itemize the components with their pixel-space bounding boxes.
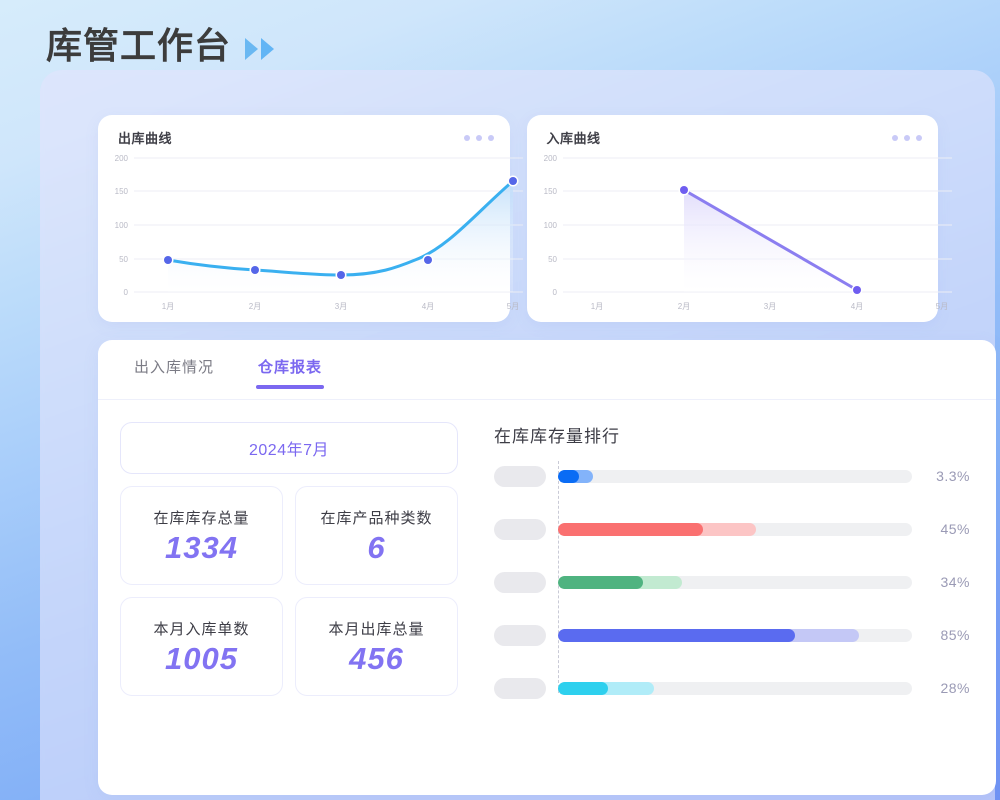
ranking-title: 在库库存量排行 bbox=[494, 422, 970, 447]
ranking-percentage: 85% bbox=[912, 627, 970, 643]
ranking-row[interactable]: 85% bbox=[494, 624, 970, 646]
ranking-item-label-placeholder bbox=[494, 519, 546, 540]
svg-text:1月: 1月 bbox=[162, 302, 174, 311]
ranking-item-label-placeholder bbox=[494, 466, 546, 487]
ranking-row[interactable]: 45% bbox=[494, 518, 970, 540]
ranking-bar-track bbox=[558, 523, 912, 536]
stat-grid: 在库库存总量 1334 在库产品种类数 6 本月入库单数 1005 本月出库总量… bbox=[120, 486, 458, 696]
stat-value: 456 bbox=[349, 643, 404, 676]
stat-label: 本月出库总量 bbox=[328, 618, 424, 639]
svg-text:4月: 4月 bbox=[850, 302, 862, 311]
svg-text:3月: 3月 bbox=[335, 302, 347, 311]
ranking-item-label-placeholder bbox=[494, 678, 546, 699]
stat-card-total-stock[interactable]: 在库库存总量 1334 bbox=[120, 486, 283, 585]
ranking-row[interactable]: 28% bbox=[494, 677, 970, 699]
ranking-bar-track bbox=[558, 576, 912, 589]
double-chevron-right-icon bbox=[245, 38, 274, 60]
ranking-bar-dark bbox=[558, 682, 608, 695]
dashboard-panel: 出库曲线 bbox=[40, 70, 995, 800]
svg-text:200: 200 bbox=[115, 154, 129, 163]
svg-text:5月: 5月 bbox=[935, 302, 947, 311]
tab-bar: 出入库情况 仓库报表 bbox=[98, 340, 996, 400]
svg-text:2月: 2月 bbox=[677, 302, 689, 311]
ranking-column: 在库库存量排行 3.3%45%34%85%28% bbox=[484, 422, 970, 699]
ranking-row[interactable]: 34% bbox=[494, 571, 970, 593]
chart-title-inbound: 入库曲线 bbox=[547, 128, 601, 147]
stat-value: 1005 bbox=[165, 643, 238, 676]
stat-card-outbound-total[interactable]: 本月出库总量 456 bbox=[295, 597, 458, 696]
more-dots-icon[interactable] bbox=[892, 135, 922, 141]
svg-text:200: 200 bbox=[543, 154, 557, 163]
ranking-item-label-placeholder bbox=[494, 625, 546, 646]
ranking-bar-track bbox=[558, 629, 912, 642]
ranking-percentage: 28% bbox=[912, 680, 970, 696]
more-dots-icon[interactable] bbox=[464, 135, 494, 141]
ranking-bar-dark bbox=[558, 470, 579, 483]
ranking-percentage: 45% bbox=[912, 521, 970, 537]
svg-text:2月: 2月 bbox=[249, 302, 261, 311]
svg-text:150: 150 bbox=[115, 187, 129, 196]
chevron-right-icon bbox=[261, 38, 274, 60]
chart-title-outbound: 出库曲线 bbox=[118, 128, 172, 147]
svg-text:5月: 5月 bbox=[507, 302, 519, 311]
ranking-row[interactable]: 3.3% bbox=[494, 465, 970, 487]
svg-text:50: 50 bbox=[548, 255, 557, 264]
inbound-line-chart: 200 150 100 50 0 1月 2月 3 bbox=[527, 149, 968, 322]
ranking-bar-dark bbox=[558, 576, 643, 589]
ranking-item-label-placeholder bbox=[494, 572, 546, 593]
stat-value: 1334 bbox=[165, 532, 238, 565]
chart-header: 出库曲线 bbox=[118, 128, 494, 147]
stat-label: 本月入库单数 bbox=[153, 618, 249, 639]
svg-text:100: 100 bbox=[115, 221, 129, 230]
chart-card-inbound: 入库曲线 bbox=[527, 115, 939, 322]
chart-header: 入库曲线 bbox=[547, 128, 923, 147]
page-title: 库管工作台 bbox=[46, 28, 231, 64]
svg-text:1月: 1月 bbox=[590, 302, 602, 311]
charts-row: 出库曲线 bbox=[98, 115, 938, 322]
tab-inout-status[interactable]: 出入库情况 bbox=[132, 348, 216, 391]
ranking-bar-track bbox=[558, 470, 912, 483]
stat-value: 6 bbox=[367, 532, 385, 565]
ranking-bar-dark bbox=[558, 629, 795, 642]
report-body: 2024年7月 在库库存总量 1334 在库产品种类数 6 本月入库单数 100… bbox=[98, 400, 996, 699]
svg-text:100: 100 bbox=[543, 221, 557, 230]
stat-label: 在库产品种类数 bbox=[320, 507, 432, 528]
stat-card-inbound-orders[interactable]: 本月入库单数 1005 bbox=[120, 597, 283, 696]
ranking-list: 3.3%45%34%85%28% bbox=[494, 465, 970, 699]
chart-card-outbound: 出库曲线 bbox=[98, 115, 510, 322]
ranking-bar-track bbox=[558, 682, 912, 695]
chevron-right-icon bbox=[245, 38, 258, 60]
svg-text:150: 150 bbox=[543, 187, 557, 196]
svg-text:4月: 4月 bbox=[422, 302, 434, 311]
stat-label: 在库库存总量 bbox=[153, 507, 249, 528]
period-selector[interactable]: 2024年7月 bbox=[120, 422, 458, 474]
ranking-percentage: 3.3% bbox=[912, 468, 970, 484]
svg-text:0: 0 bbox=[552, 288, 557, 297]
stats-column: 2024年7月 在库库存总量 1334 在库产品种类数 6 本月入库单数 100… bbox=[120, 422, 458, 699]
svg-text:0: 0 bbox=[124, 288, 129, 297]
ranking-bar-dark bbox=[558, 523, 703, 536]
stat-card-product-types[interactable]: 在库产品种类数 6 bbox=[295, 486, 458, 585]
ranking-percentage: 34% bbox=[912, 574, 970, 590]
report-panel: 出入库情况 仓库报表 2024年7月 在库库存总量 1334 在库产品种类数 6 bbox=[98, 340, 996, 795]
page-header: 库管工作台 bbox=[46, 28, 274, 64]
svg-text:50: 50 bbox=[119, 255, 128, 264]
outbound-line-chart: 200 150 100 50 0 bbox=[98, 149, 539, 322]
svg-text:3月: 3月 bbox=[763, 302, 775, 311]
tab-warehouse-report[interactable]: 仓库报表 bbox=[256, 348, 324, 391]
